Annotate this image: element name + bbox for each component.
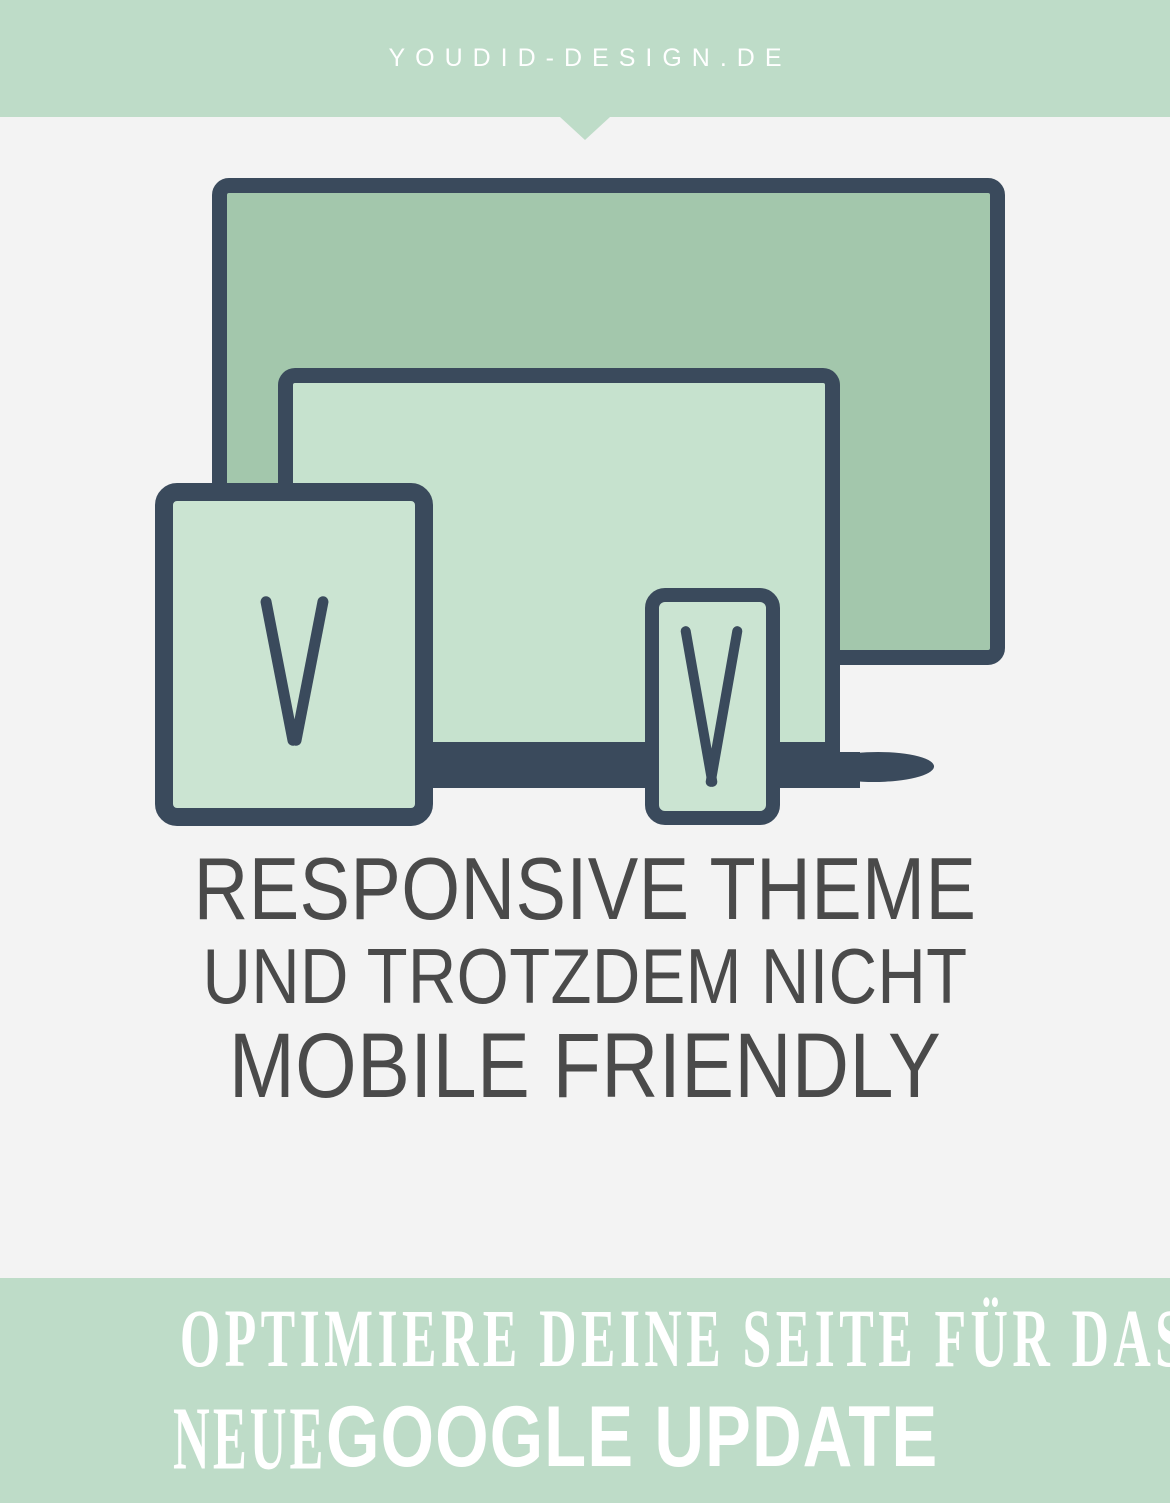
- device-illustration: [0, 0, 1170, 860]
- phone-x-cross-icon: [683, 625, 741, 788]
- headline-block: RESPONSIVE THEME UND TROTZDEM NICHT MOBI…: [0, 846, 1170, 1111]
- tablet-x-cross-icon: [258, 595, 332, 747]
- headline-line-1: RESPONSIVE THEME: [82, 846, 1088, 932]
- headline-line-3: MOBILE FRIENDLY: [82, 1021, 1088, 1111]
- footer-line-2-words-google-update: GOOGLE UPDATE: [326, 1388, 938, 1487]
- footer-line-1: OPTIMIERE DEINE SEITE FÜR DAS: [176, 1292, 995, 1387]
- footer-line-2: NEUEGOOGLE UPDATE: [0, 1388, 1170, 1487]
- poster-canvas: YOUDID-DESIGN.DE RESPONSIVE THEME UND TR…: [0, 0, 1170, 1503]
- footer-line-2-word-neue: NEUE: [173, 1387, 326, 1490]
- x-stroke-right: [705, 625, 743, 787]
- headline-line-2: UND TROTZDEM NICHT: [82, 938, 1088, 1014]
- x-stroke-right: [290, 595, 330, 746]
